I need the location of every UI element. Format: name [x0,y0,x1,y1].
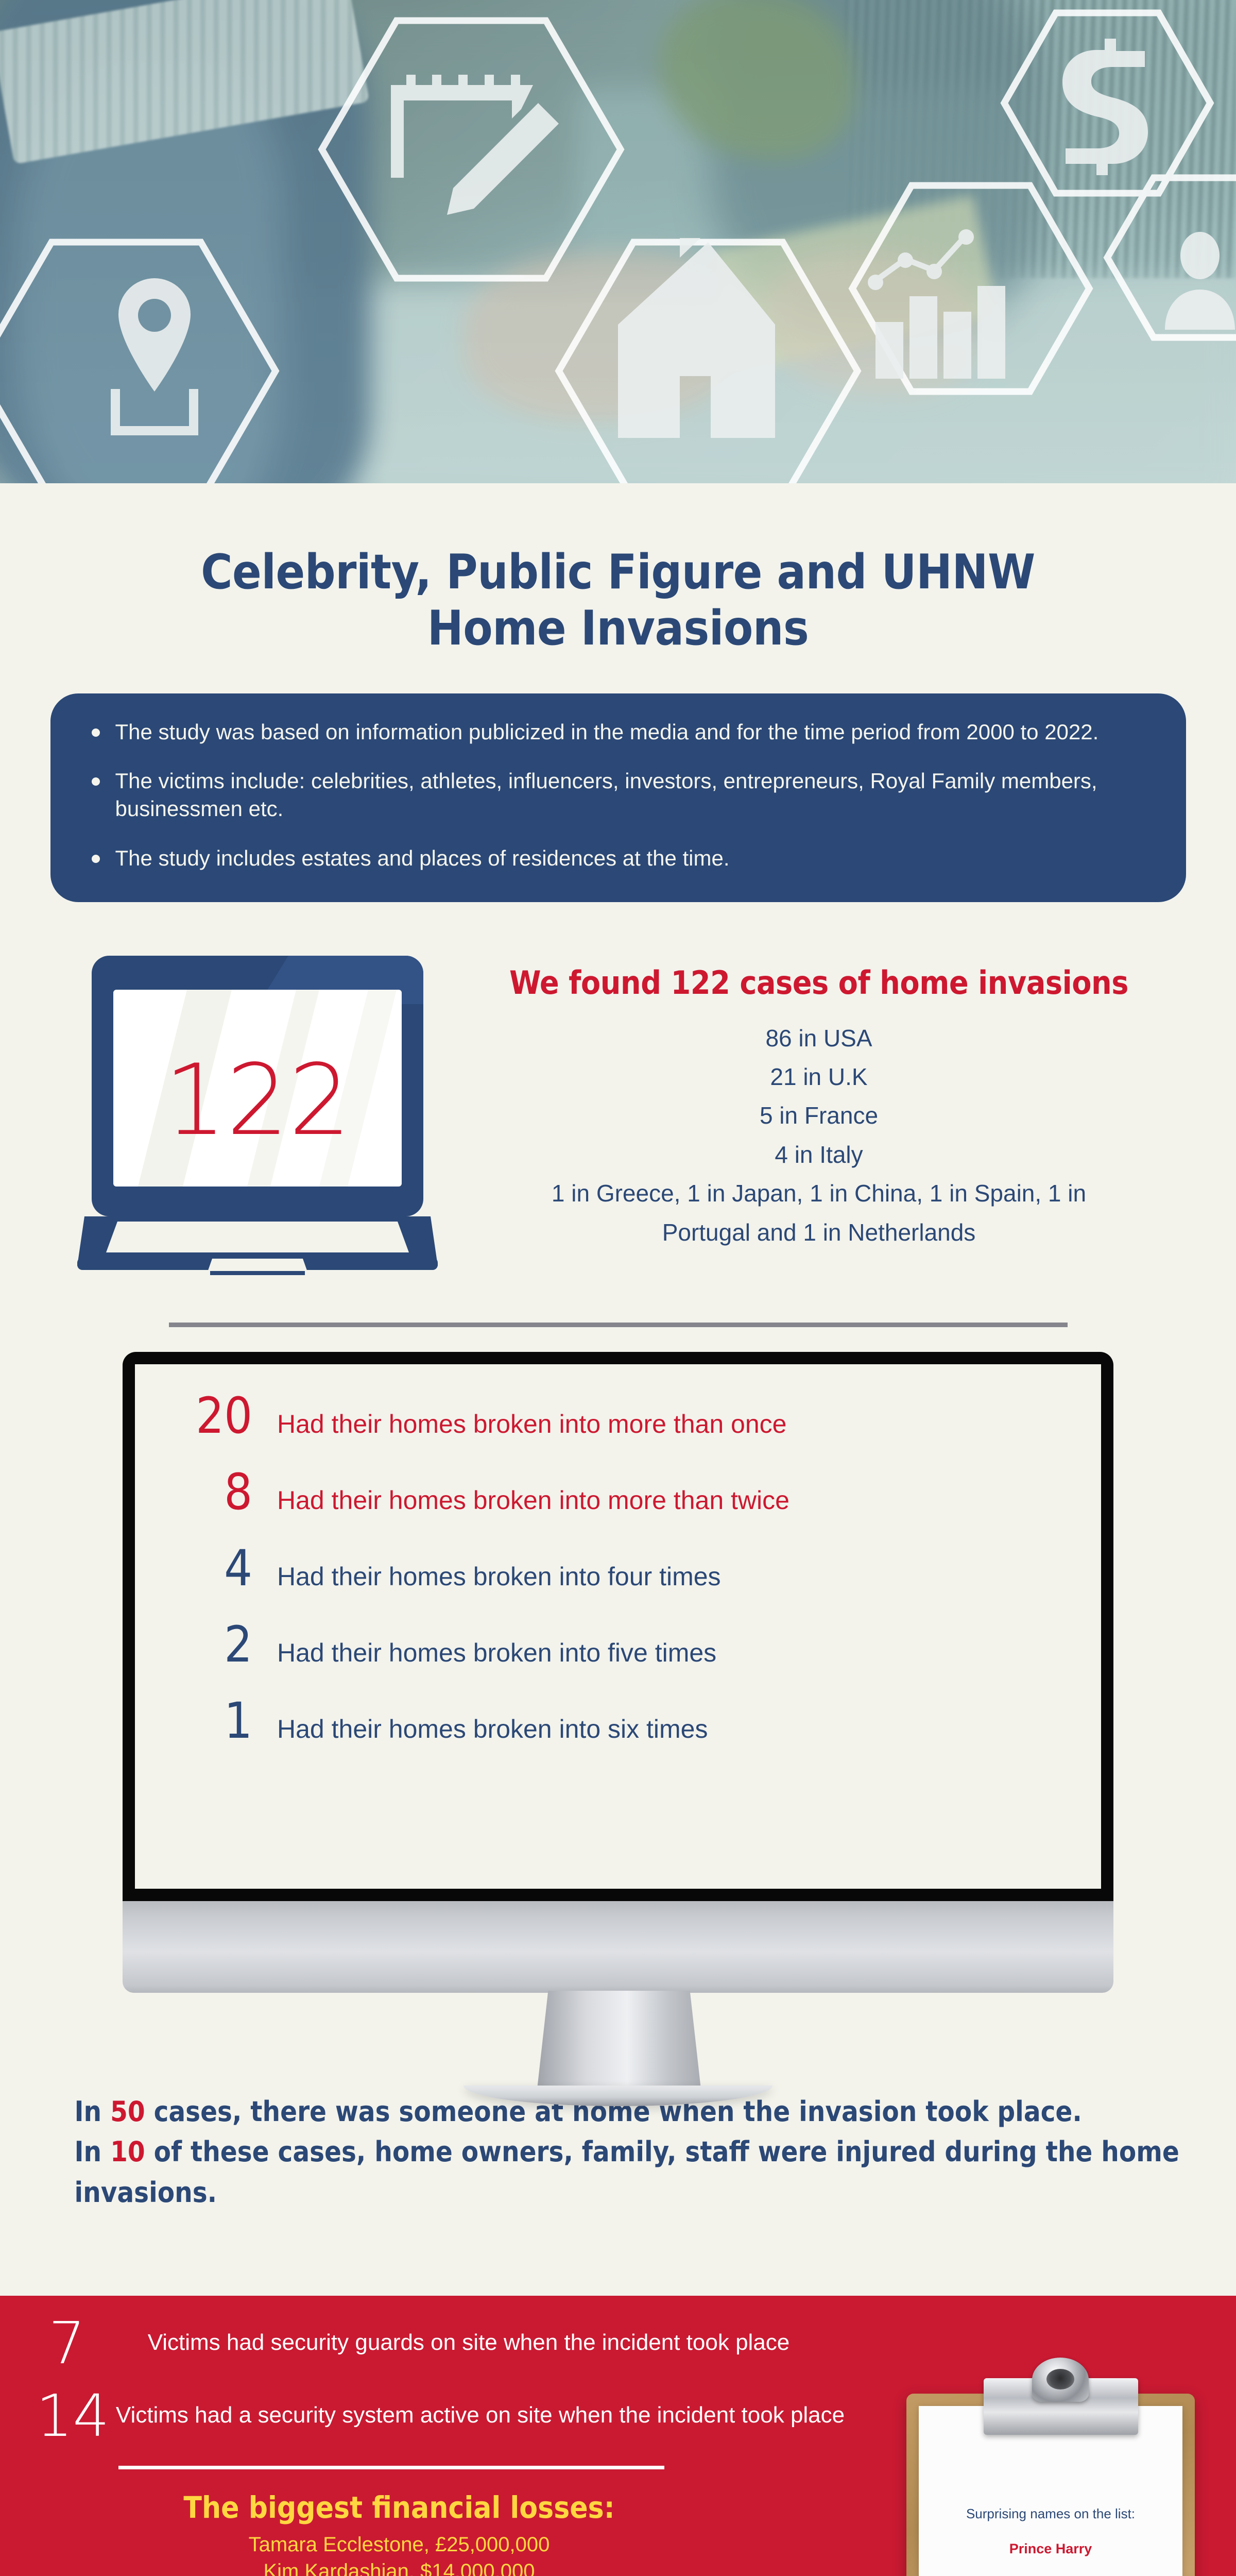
list-item: 86 in USA [453,1019,1184,1058]
stat-label: Victims had a security system active on … [110,2390,851,2429]
cases-text-block: We found 122 cases of home invasions 86 … [453,964,1184,1252]
clipboard-illustration: Surprising names on the list: Prince Har… [887,2351,1196,2576]
cases-breakdown: 86 in USA 21 in U.K 5 in France 4 in Ita… [453,1019,1184,1252]
para-1-number: 50 [110,2095,145,2128]
para-2-pre: In [75,2136,111,2168]
cases-heading: We found 122 cases of home invasions [453,964,1184,1002]
losses-list: Tamara Ecclestone, £25,000,000 Kim Karda… [0,2531,798,2576]
section-divider [169,1323,1068,1327]
list-item: The victims include: celebrities, athlet… [87,767,1150,823]
stat-label: Had their homes broken into four times [252,1563,721,1591]
list-item: Kim Kardashian, $14,000,000 [0,2558,798,2576]
list-item: 5 in France [453,1096,1184,1135]
hero-banner [0,0,1236,483]
study-notes-list: The study was based on information publi… [87,718,1150,872]
stat-number: 7 [36,2317,98,2370]
list-item: The study includes estates and places of… [87,844,1150,872]
stat-number: 2 [160,1620,252,1669]
table-row: 8 Had their homes broken into more than … [160,1467,1080,1517]
security-footer: 7 Victims had security guards on site wh… [0,2296,1236,2576]
list-item: 21 in U.K [453,1058,1184,1096]
someone-home-paragraph: In 50 cases, there was someone at home w… [43,2092,1194,2213]
stat-label: Victims had security guards on site when… [98,2317,839,2357]
table-row: 2 Had their homes broken into five times [160,1620,1080,1669]
monitor-display: 20 Had their homes broken into more than… [135,1364,1101,1889]
para-1-pre: In [75,2095,111,2128]
monitor-chin [123,1901,1113,1993]
laptop-illustration: 122 [77,950,438,1279]
para-2-post: of these cases, home owners, family, sta… [75,2136,1179,2209]
clipboard-title: Surprising names on the list: [919,2506,1182,2522]
stat-label: Had their homes broken into more than on… [252,1410,786,1438]
list-item: The study was based on information publi… [87,718,1150,746]
page-title-line1: Celebrity, Public Figure and UHNW [201,544,1035,600]
list-item: Tamara Ecclestone, £25,000,000 [0,2531,798,2558]
laptop-number: 122 [164,1043,351,1157]
losses-heading: The biggest financial losses: [0,2490,798,2525]
cases-section: 122 We found 122 cases of home invasions… [0,950,1236,1290]
stat-label: Had their homes broken into six times [252,1715,708,1743]
stat-number: 4 [160,1544,252,1593]
table-row: 4 Had their homes broken into four times [160,1544,1080,1593]
stat-number: 20 [160,1391,252,1440]
stat-number: 8 [160,1467,252,1517]
stat-label: Had their homes broken into five times [252,1639,716,1667]
stat-label: Had their homes broken into more than tw… [252,1486,789,1515]
monitor-illustration: 20 Had their homes broken into more than… [0,1352,1236,2032]
table-row: 20 Had their homes broken into more than… [160,1391,1080,1440]
list-item: Portugal and 1 in Netherlands [453,1213,1184,1252]
monitor-stand [537,1991,701,2094]
financial-losses-block: The biggest financial losses: Tamara Ecc… [0,2490,798,2576]
clipboard-names-list: Prince Harry Jeff Bezos Steve Jobs David… [919,2533,1182,2576]
study-notes-box: The study was based on information publi… [50,693,1186,902]
list-item: Prince Harry [919,2533,1182,2565]
page-title-line2: Home Invasions [0,600,1236,656]
page-title: Celebrity, Public Figure and UHNW Home I… [0,483,1236,656]
footer-divider [118,2466,664,2469]
list-item: Jeff Bezos [919,2566,1182,2576]
list-item: 4 in Italy [453,1136,1184,1174]
clipboard-knob-icon [1032,2358,1089,2402]
para-2-number: 10 [110,2136,145,2168]
monitor-bezel: 20 Had their homes broken into more than… [123,1352,1113,1901]
stat-number: 1 [160,1696,252,1745]
table-row: 1 Had their homes broken into six times [160,1696,1080,1745]
list-item: 1 in Greece, 1 in Japan, 1 in China, 1 i… [453,1174,1184,1213]
stat-number: 14 [36,2390,110,2443]
hero-icon-overlay [0,0,1236,483]
